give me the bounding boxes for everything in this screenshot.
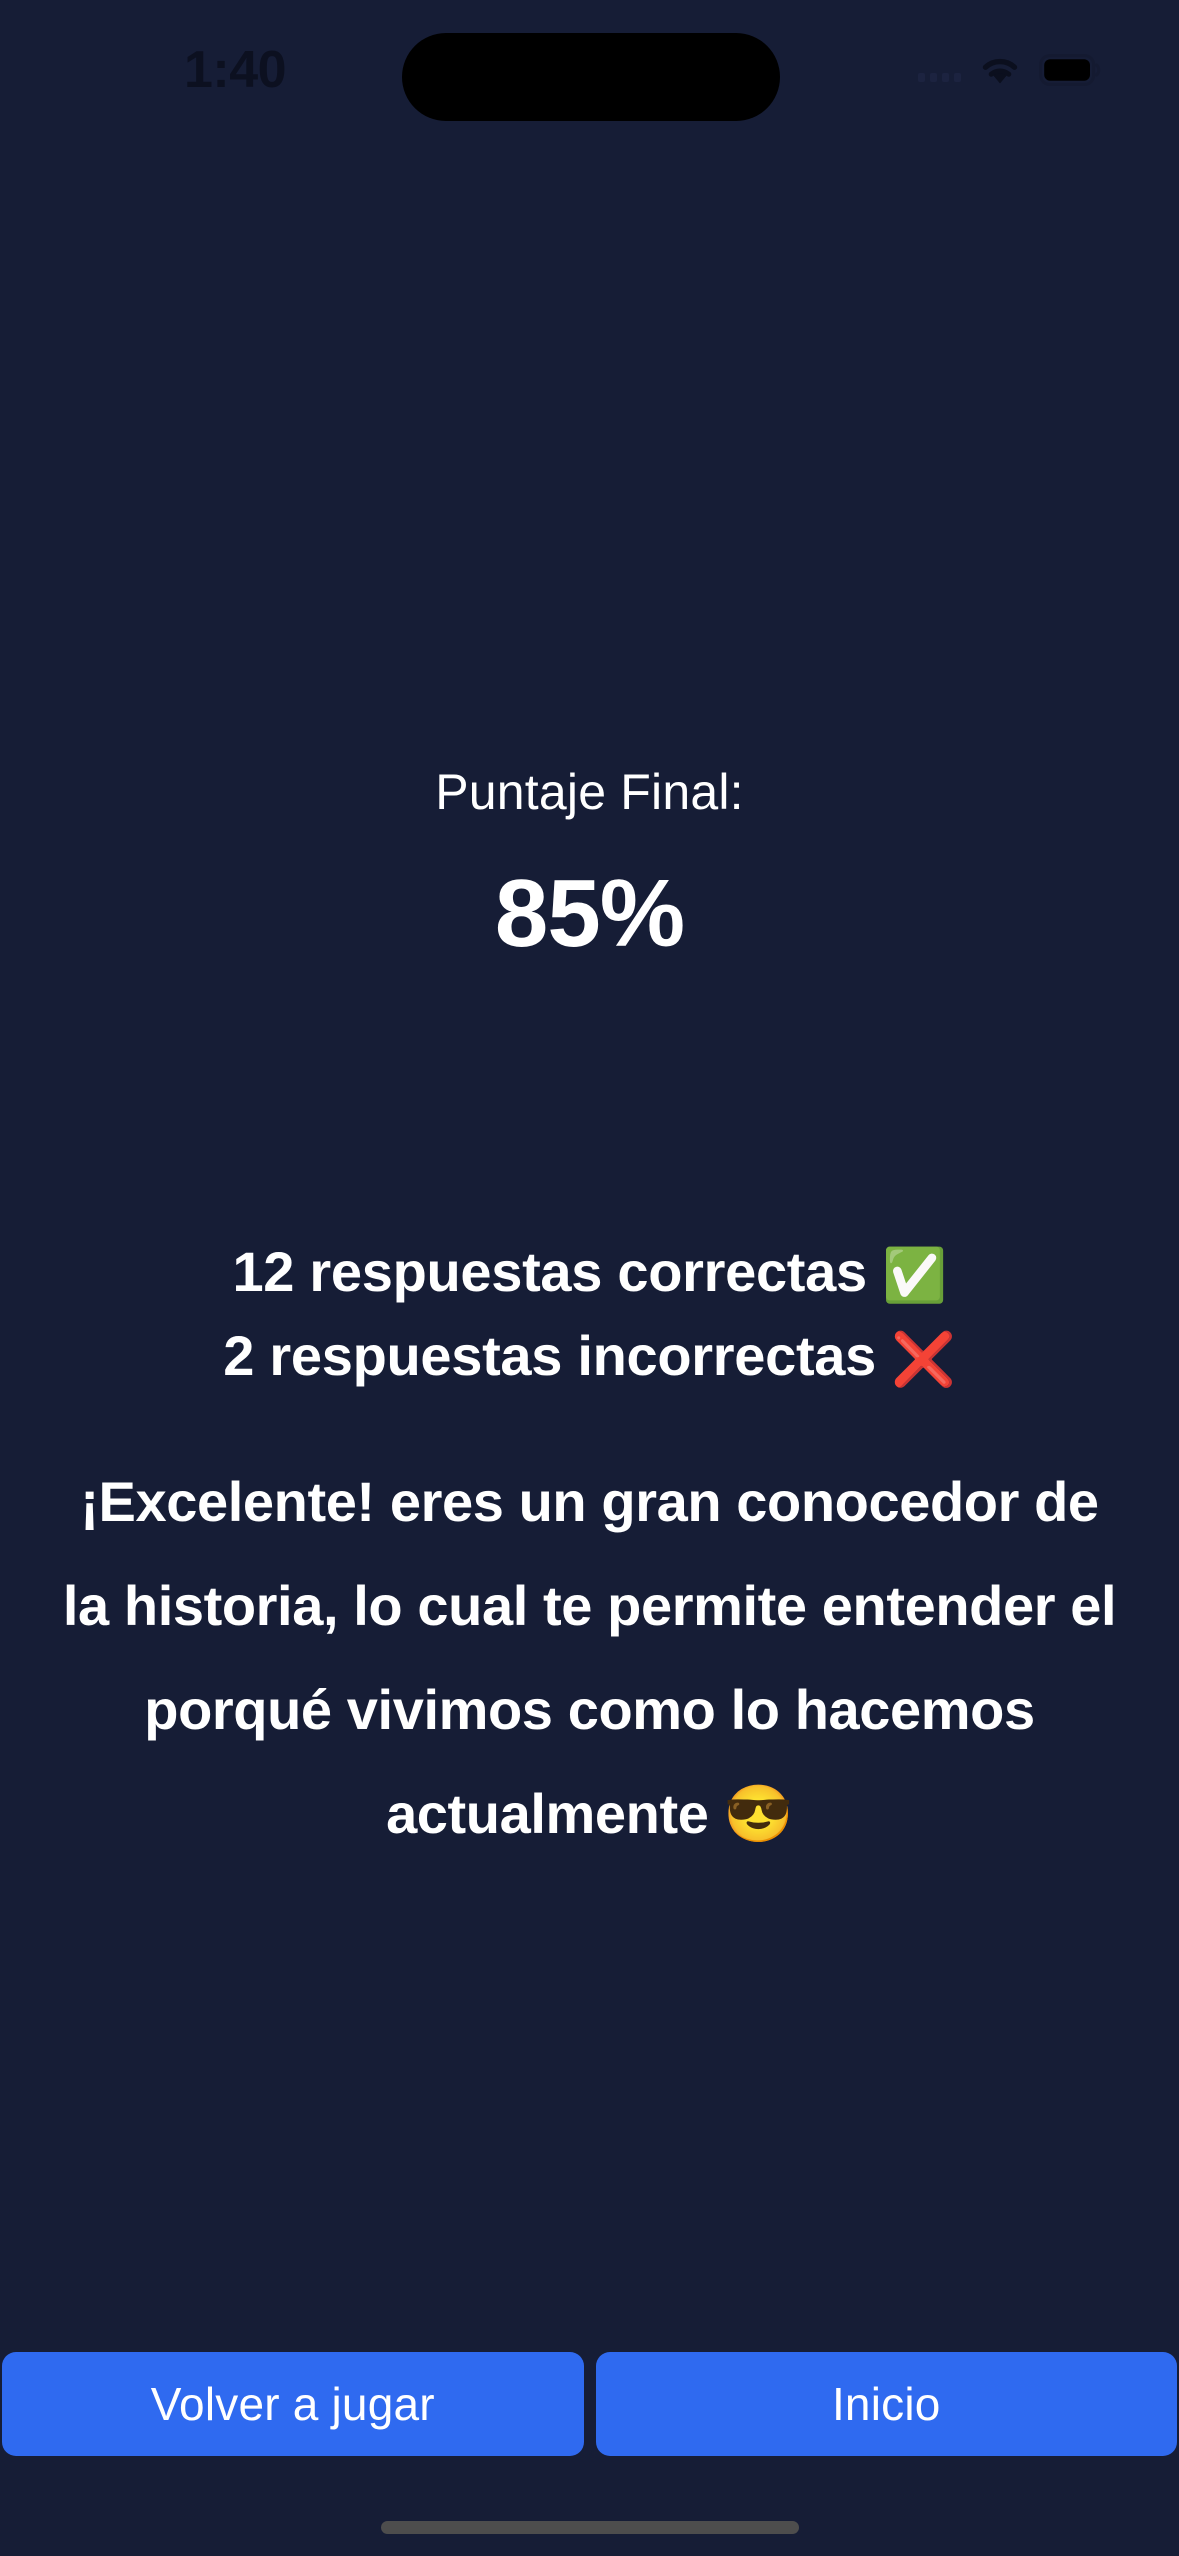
final-score-block: Puntaje Final: 85% [0, 760, 1179, 966]
cellular-signal-icon [918, 56, 961, 84]
correct-answers-text: 12 respuestas correctas [232, 1240, 866, 1303]
feedback-block: ¡Excelente! eres un gran conocedor de la… [50, 1450, 1129, 1866]
replay-button[interactable]: Volver a jugar [2, 2352, 584, 2456]
dynamic-island [402, 33, 780, 121]
feedback-message: ¡Excelente! eres un gran conocedor de la… [50, 1450, 1129, 1866]
home-button[interactable]: Inicio [596, 2352, 1178, 2456]
status-bar-indicators [918, 44, 1101, 96]
incorrect-answers-text: 2 respuestas incorrectas [223, 1324, 876, 1387]
battery-icon [1039, 54, 1101, 86]
home-indicator[interactable] [381, 2521, 799, 2534]
status-bar: 1:40 [0, 0, 1179, 140]
status-bar-time: 1:40 [155, 40, 315, 100]
final-score-value: 85% [0, 862, 1179, 966]
cross-mark-icon: ❌ [891, 1331, 955, 1389]
final-score-label: Puntaje Final: [0, 760, 1179, 824]
check-mark-icon: ✅ [882, 1247, 946, 1305]
incorrect-answers-line: 2 respuestas incorrectas ❌ [0, 1316, 1179, 1400]
answer-stats-block: 12 respuestas correctas ✅ 2 respuestas i… [0, 1232, 1179, 1400]
wifi-icon [977, 53, 1023, 87]
action-button-bar: Volver a jugar Inicio [0, 2352, 1179, 2456]
correct-answers-line: 12 respuestas correctas ✅ [0, 1232, 1179, 1316]
results-screen: Puntaje Final: 85% 12 respuestas correct… [0, 0, 1179, 2556]
